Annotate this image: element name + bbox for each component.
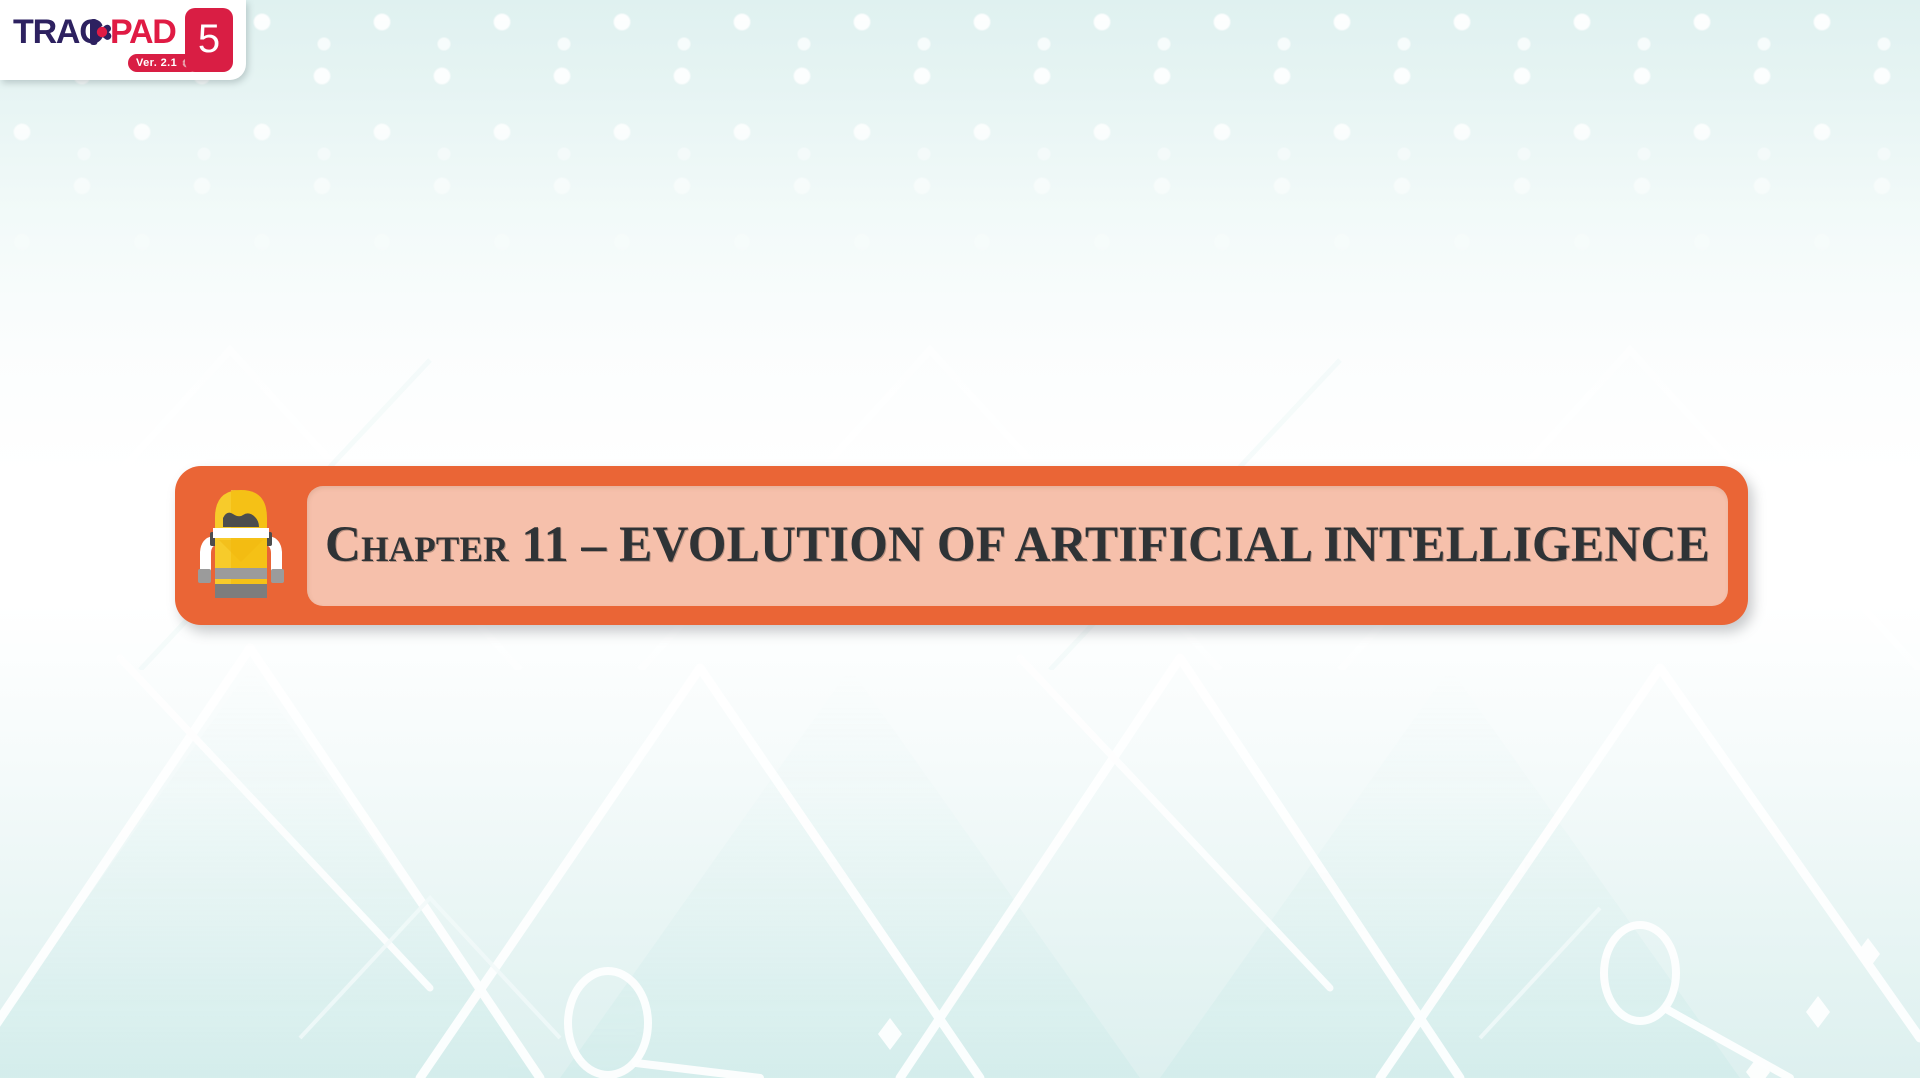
backpack-icon xyxy=(193,484,289,608)
trackpad-logo-card[interactable]: TRAC PAD Ver. 2.1 xyxy=(0,0,246,80)
svg-text:PAD: PAD xyxy=(110,13,176,51)
trackpad-wordmark-icon: TRAC PAD xyxy=(13,12,201,52)
dot-pattern-decoration-secondary xyxy=(54,0,1920,246)
version-label: Ver. 2.1 xyxy=(136,58,177,69)
edition-badge: 5 xyxy=(185,8,233,72)
dot-pattern-decoration xyxy=(0,0,1920,300)
slide-canvas: TRAC PAD Ver. 2.1 xyxy=(0,0,1920,1078)
page-title: Chapter 11 – EVOLUTION OF ARTIFICIAL INT… xyxy=(325,519,1710,573)
logo-inner: TRAC PAD Ver. 2.1 xyxy=(0,0,246,80)
chapter-title-panel: Chapter 11 – EVOLUTION OF ARTIFICIAL INT… xyxy=(307,486,1728,606)
chapter-title-banner: Chapter 11 – EVOLUTION OF ARTIFICIAL INT… xyxy=(175,466,1748,625)
banner-icon-slot xyxy=(175,466,307,625)
svg-text:TRAC: TRAC xyxy=(13,13,103,51)
